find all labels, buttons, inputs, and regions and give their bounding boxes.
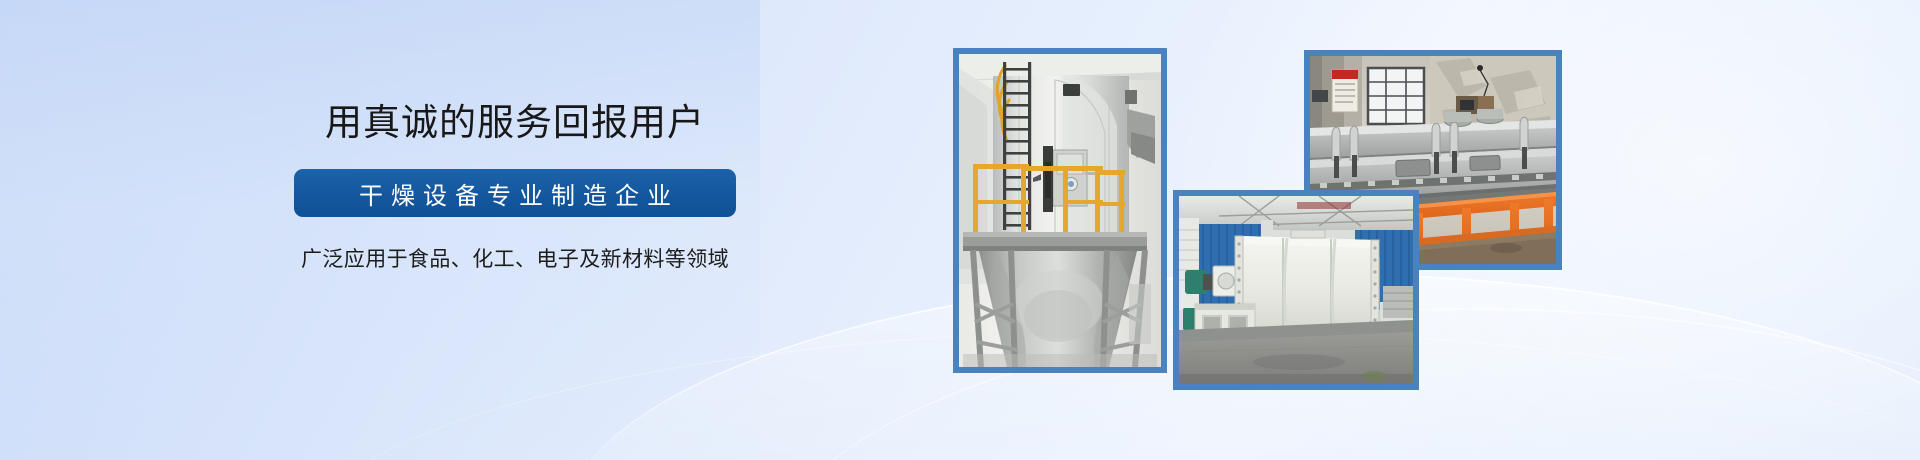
banner-tagline: 广泛应用于食品、化工、电子及新材料等领域 — [262, 243, 768, 273]
banner-copy: 用真诚的服务回报用户 干燥设备专业制造企业 广泛应用于食品、化工、电子及新材料等… — [262, 104, 768, 273]
banner-ribbon: 干燥设备专业制造企业 — [294, 169, 736, 217]
banner-ribbon-label: 干燥设备专业制造企业 — [351, 176, 679, 211]
photo-spray-dryer — [953, 48, 1167, 373]
photo-spray-dryer-image — [959, 54, 1161, 367]
hero-banner: 用真诚的服务回报用户 干燥设备专业制造企业 广泛应用于食品、化工、电子及新材料等… — [0, 0, 1920, 460]
photo-ribbon-mixer-image — [1179, 196, 1413, 384]
photo-ribbon-mixer — [1173, 190, 1419, 390]
banner-headline: 用真诚的服务回报用户 — [262, 104, 768, 141]
